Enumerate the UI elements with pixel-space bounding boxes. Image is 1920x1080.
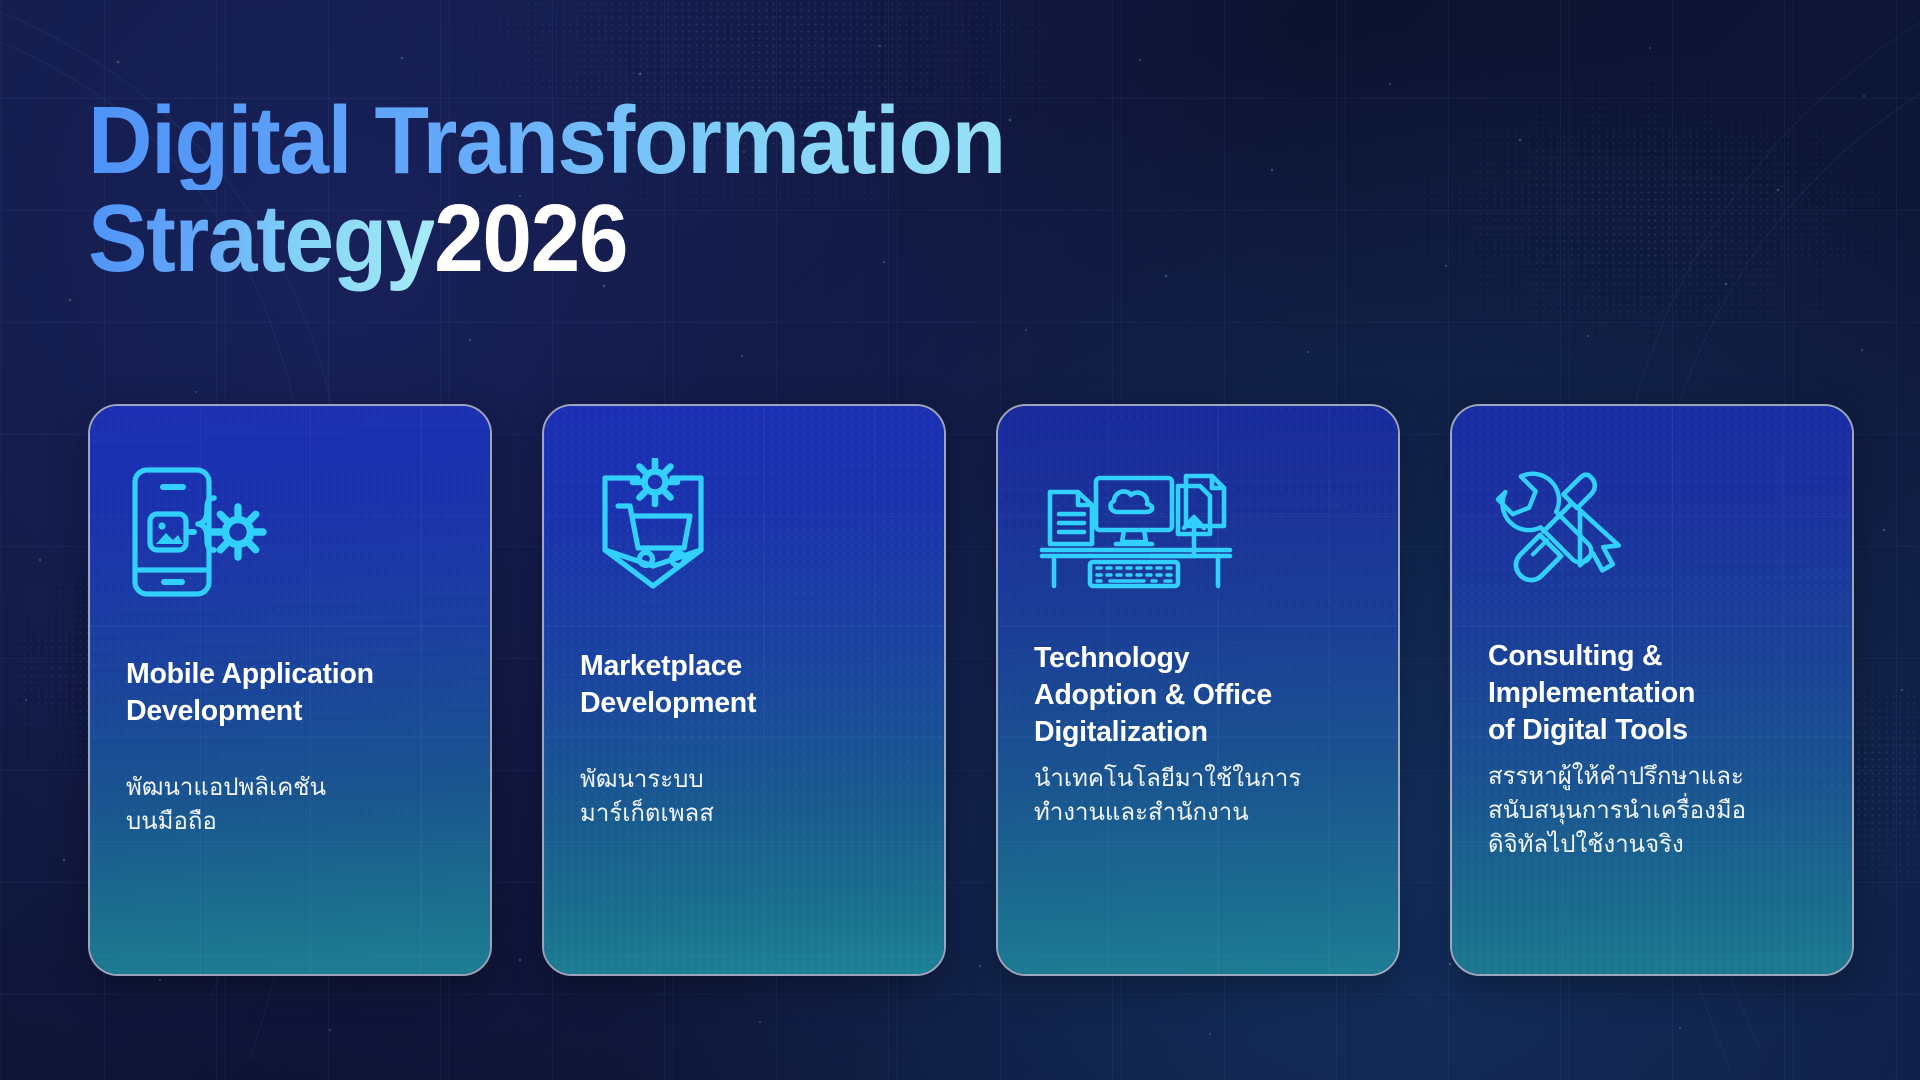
- card-description: สรรหาผู้ให้คำปรึกษาและ สนับสนุนการนำเครื…: [1488, 759, 1816, 861]
- service-card-marketplace-development[interactable]: Marketplace Development พัฒนาระบบ มาร์เก…: [542, 404, 946, 976]
- title-year: 2026: [434, 185, 627, 292]
- card-title: Marketplace Development: [580, 648, 908, 722]
- office-desk-cloud-computer-icon: [1034, 452, 1362, 602]
- card-title: Mobile Application Development: [126, 656, 454, 730]
- service-card-technology-adoption-office-digitalization[interactable]: Technology Adoption & Office Digitalizat…: [996, 404, 1400, 976]
- marketplace-cart-gear-icon: [580, 452, 908, 602]
- service-card-list: Mobile Application Development พัฒนาแอปพ…: [88, 404, 1854, 976]
- title-line-1: Digital Transformation: [88, 92, 1185, 190]
- service-card-mobile-application-development[interactable]: Mobile Application Development พัฒนาแอปพ…: [88, 404, 492, 976]
- card-title: Technology Adoption & Office Digitalizat…: [1034, 640, 1362, 751]
- card-description: พัฒนาระบบ มาร์เก็ตเพลส: [580, 762, 908, 830]
- card-description: พัฒนาแอปพลิเคชัน บนมือถือ: [126, 770, 454, 838]
- title-strategy-word: Strategy: [88, 185, 434, 292]
- slide-canvas: Digital Transformation Strategy2026: [0, 0, 1920, 1080]
- service-card-consulting-implementation-digital-tools[interactable]: Consulting & Implementation of Digital T…: [1450, 404, 1854, 976]
- wrench-screwdriver-cursor-icon: [1488, 452, 1816, 602]
- card-title: Consulting & Implementation of Digital T…: [1488, 638, 1816, 749]
- card-description: นำเทคโนโลยีมาใช้ในการ ทำงานและสำนักงาน: [1034, 761, 1362, 829]
- page-title: Digital Transformation Strategy2026: [88, 92, 1268, 288]
- title-line-2: Strategy2026: [88, 190, 1185, 288]
- mobile-app-code-gear-icon: [126, 452, 454, 612]
